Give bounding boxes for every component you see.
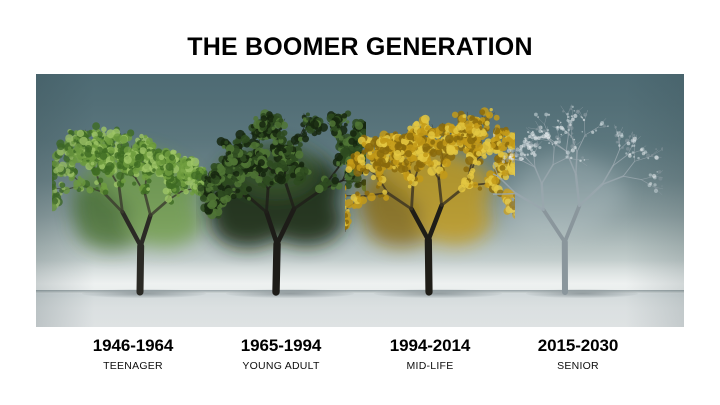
tree-summer-dark-green [196, 74, 366, 327]
caption-row: 1946-1964 TEENAGER 1965-1994 YOUNG ADULT… [36, 335, 684, 390]
seasons-photo-band [36, 74, 684, 327]
page-title: THE BOOMER GENERATION [0, 32, 720, 62]
tree-winter-bare [493, 74, 663, 327]
caption-stage-label: SENIOR [488, 358, 668, 374]
tree-autumn-golden [345, 74, 515, 327]
caption-range-label: 2015-2030 [488, 335, 668, 356]
caption-senior: 2015-2030 SENIOR [488, 335, 668, 374]
